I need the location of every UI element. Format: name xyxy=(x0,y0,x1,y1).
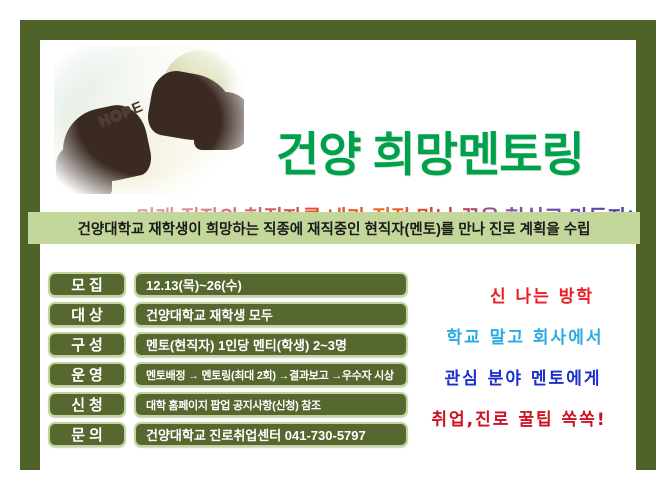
info-label-contact: 문의 xyxy=(48,422,126,447)
description-banner: 건양대학교 재학생이 희망하는 직종에 재직중인 현직자(멘토)를 만나 진로 … xyxy=(28,212,640,244)
info-label-recruit: 모집 xyxy=(48,272,126,297)
slogan-line-3: 관심 분야 멘토에게 xyxy=(416,364,630,389)
info-value-contact: 건양대학교 진로취업센터 041-730-5797 xyxy=(134,422,408,447)
info-row: 대상 건양대학교 재학생 모두 xyxy=(48,302,408,327)
slogan-line-2: 학교 말고 회사에서 xyxy=(420,323,630,348)
slogan-line-4: 취업,진로 꿀팁 쏙쏙! xyxy=(408,405,630,430)
hero-section: HOPE 건양 희망멘토링 미래 직장의 현직자를 내가 직접 만나 꿈을 현실… xyxy=(40,40,636,200)
info-row: 문의 건양대학교 진로취업센터 041-730-5797 xyxy=(48,422,408,447)
info-label-target: 대상 xyxy=(48,302,126,327)
slogan-line-1: 신 나는 방학 xyxy=(454,282,630,307)
info-value-composition: 멘토(현직자) 1인당 멘티(학생) 2~3명 xyxy=(134,332,408,357)
info-label-operation: 운영 xyxy=(48,362,126,387)
info-value-recruit: 12.13(목)~26(수) xyxy=(134,272,408,297)
info-row: 신청 대학 홈페이지 팝업 공지사항(신청) 참조 xyxy=(48,392,408,417)
info-value-target: 건양대학교 재학생 모두 xyxy=(134,302,408,327)
info-row: 구성 멘토(현직자) 1인당 멘티(학생) 2~3명 xyxy=(48,332,408,357)
info-table: 모집 12.13(목)~26(수) 대상 건양대학교 재학생 모두 구성 멘토(… xyxy=(48,272,408,452)
hands-holding-hope-image: HOPE xyxy=(54,46,244,194)
poster-title: 건양 희망멘토링 xyxy=(276,116,584,185)
info-label-composition: 구성 xyxy=(48,332,126,357)
info-row: 모집 12.13(목)~26(수) xyxy=(48,272,408,297)
description-banner-text: 건양대학교 재학생이 희망하는 직종에 재직중인 현직자(멘토)를 만나 진로 … xyxy=(78,218,591,239)
info-value-application: 대학 홈페이지 팝업 공지사항(신청) 참조 xyxy=(134,392,408,417)
info-label-application: 신청 xyxy=(48,392,126,417)
handwritten-slogan: 신 나는 방학 학교 말고 회사에서 관심 분야 멘토에게 취업,진로 꿀팁 쏙… xyxy=(420,282,630,430)
info-value-operation: 멘토배정 → 멘토링(최대 2회) →결과보고 →우수자 시상 xyxy=(134,362,408,387)
poster-root: HOPE 건양 희망멘토링 미래 직장의 현직자를 내가 직접 만나 꿈을 현실… xyxy=(0,0,668,492)
info-row: 운영 멘토배정 → 멘토링(최대 2회) →결과보고 →우수자 시상 xyxy=(48,362,408,387)
